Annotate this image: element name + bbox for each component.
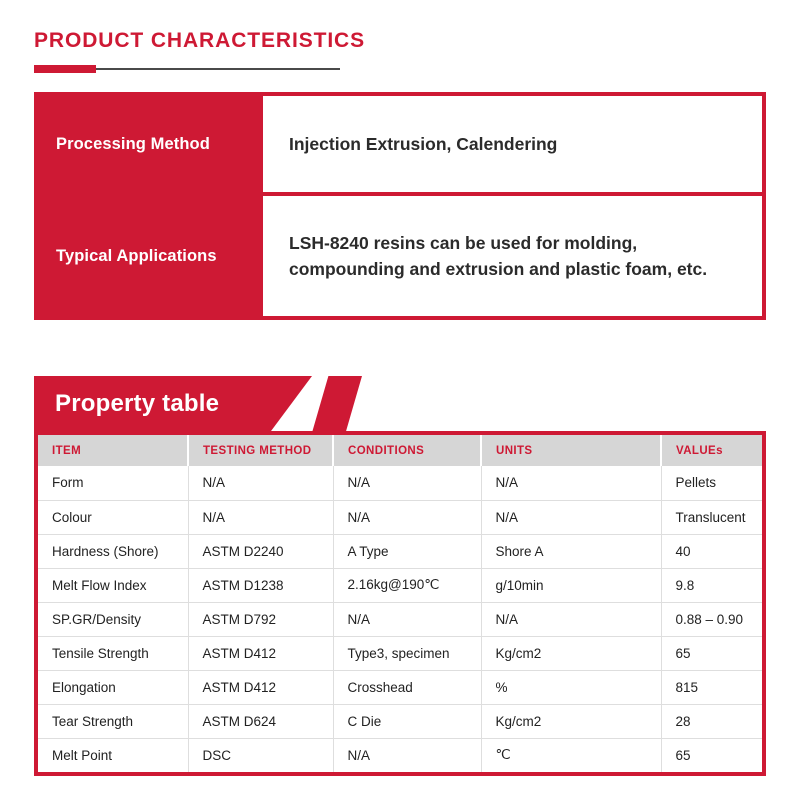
column-header-conditions: CONDITIONS <box>333 435 481 466</box>
cell-value: 28 <box>661 704 762 738</box>
cell-method: N/A <box>188 466 333 500</box>
cell-item: Tensile Strength <box>38 636 188 670</box>
table-row: SP.GR/Density ASTM D792 N/A N/A 0.88 – 0… <box>38 602 762 636</box>
cell-units: Kg/cm2 <box>481 704 661 738</box>
cell-value: 65 <box>661 636 762 670</box>
cell-conditions: N/A <box>333 466 481 500</box>
cell-units: N/A <box>481 466 661 500</box>
column-header-item: ITEM <box>38 435 188 466</box>
characteristics-table: Processing Method Injection Extrusion, C… <box>34 92 766 320</box>
cell-units: N/A <box>481 500 661 534</box>
characteristics-row-value: LSH-8240 resins can be used for molding,… <box>267 196 762 316</box>
cell-conditions: N/A <box>333 738 481 772</box>
column-header-testing-method: TESTING METHOD <box>188 435 333 466</box>
cell-units: g/10min <box>481 568 661 602</box>
cell-item: Elongation <box>38 670 188 704</box>
cell-item: Hardness (Shore) <box>38 534 188 568</box>
column-header-units: UNITS <box>481 435 661 466</box>
property-table: ITEM TESTING METHOD CONDITIONS UNITS VAL… <box>38 435 762 772</box>
cell-method: ASTM D1238 <box>188 568 333 602</box>
characteristics-row: Processing Method Injection Extrusion, C… <box>38 96 762 192</box>
cell-conditions: N/A <box>333 500 481 534</box>
cell-units: Shore A <box>481 534 661 568</box>
table-row: Melt Flow Index ASTM D1238 2.16kg@190℃ g… <box>38 568 762 602</box>
characteristics-row: Typical Applications LSH-8240 resins can… <box>38 192 762 316</box>
product-datasheet-page: PRODUCT CHARACTERISTICS Processing Metho… <box>0 0 800 800</box>
characteristics-row-label: Typical Applications <box>38 196 267 316</box>
cell-value: 40 <box>661 534 762 568</box>
cell-value: Pellets <box>661 466 762 500</box>
cell-value: 0.88 – 0.90 <box>661 602 762 636</box>
table-header-row: ITEM TESTING METHOD CONDITIONS UNITS VAL… <box>38 435 762 466</box>
cell-item: SP.GR/Density <box>38 602 188 636</box>
cell-conditions: A Type <box>333 534 481 568</box>
table-row: Tensile Strength ASTM D412 Type3, specim… <box>38 636 762 670</box>
characteristics-row-label: Processing Method <box>38 96 267 192</box>
table-row: Colour N/A N/A N/A Translucent <box>38 500 762 534</box>
cell-item: Form <box>38 466 188 500</box>
cell-method: ASTM D624 <box>188 704 333 738</box>
table-row: Hardness (Shore) ASTM D2240 A Type Shore… <box>38 534 762 568</box>
characteristics-row-value: Injection Extrusion, Calendering <box>267 96 762 192</box>
cell-units: % <box>481 670 661 704</box>
cell-item: Melt Point <box>38 738 188 772</box>
cell-conditions: 2.16kg@190℃ <box>333 568 481 602</box>
table-row: Tear Strength ASTM D624 C Die Kg/cm2 28 <box>38 704 762 738</box>
cell-item: Tear Strength <box>38 704 188 738</box>
banner-shape-accent <box>302 376 362 432</box>
cell-method: DSC <box>188 738 333 772</box>
cell-method: ASTM D792 <box>188 602 333 636</box>
cell-item: Colour <box>38 500 188 534</box>
cell-conditions: Crosshead <box>333 670 481 704</box>
column-header-values: VALUEs <box>661 435 762 466</box>
property-table-body: Form N/A N/A N/A Pellets Colour N/A N/A … <box>38 466 762 772</box>
cell-value: Translucent <box>661 500 762 534</box>
cell-conditions: N/A <box>333 602 481 636</box>
cell-conditions: Type3, specimen <box>333 636 481 670</box>
heading-rule <box>34 65 340 73</box>
property-table-banner: Property table <box>34 376 354 432</box>
heading-rule-thick <box>34 65 96 73</box>
page-title: PRODUCT CHARACTERISTICS <box>34 28 754 54</box>
cell-method: ASTM D412 <box>188 670 333 704</box>
cell-method: N/A <box>188 500 333 534</box>
table-row: Form N/A N/A N/A Pellets <box>38 466 762 500</box>
property-table-title: Property table <box>55 376 219 432</box>
cell-method: ASTM D412 <box>188 636 333 670</box>
cell-units: N/A <box>481 602 661 636</box>
property-table-head: ITEM TESTING METHOD CONDITIONS UNITS VAL… <box>38 435 762 466</box>
table-row: Melt Point DSC N/A ℃ 65 <box>38 738 762 772</box>
cell-value: 9.8 <box>661 568 762 602</box>
table-row: Elongation ASTM D412 Crosshead % 815 <box>38 670 762 704</box>
cell-units: ℃ <box>481 738 661 772</box>
property-table-wrapper: ITEM TESTING METHOD CONDITIONS UNITS VAL… <box>34 431 766 776</box>
section-heading: PRODUCT CHARACTERISTICS <box>34 28 754 73</box>
cell-item: Melt Flow Index <box>38 568 188 602</box>
cell-value: 815 <box>661 670 762 704</box>
cell-value: 65 <box>661 738 762 772</box>
cell-units: Kg/cm2 <box>481 636 661 670</box>
cell-method: ASTM D2240 <box>188 534 333 568</box>
cell-conditions: C Die <box>333 704 481 738</box>
